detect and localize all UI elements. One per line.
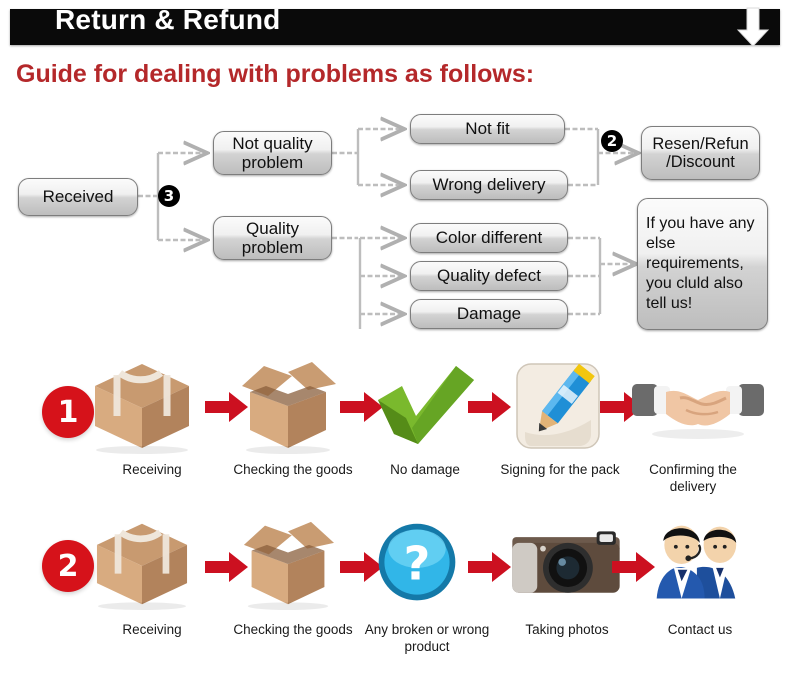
flow-box-damage: Damage bbox=[410, 299, 568, 329]
process-step-caption: Checking the goods bbox=[228, 462, 358, 479]
flow-box-label: Not fit bbox=[465, 119, 509, 138]
process-step: Confirming the delivery bbox=[628, 358, 758, 496]
badge-2: 2 bbox=[601, 130, 623, 152]
flow-box-not-fit: Not fit bbox=[410, 114, 565, 144]
flow-box-label: Quality defect bbox=[437, 266, 541, 285]
process-row-1: 1 Receiving bbox=[0, 350, 800, 510]
process-step-caption: Checking the goods bbox=[228, 622, 358, 639]
row-number-value: 2 bbox=[58, 549, 79, 584]
flowchart: Received 3 Not quality problem Quality p… bbox=[0, 100, 800, 340]
open-box-icon bbox=[228, 518, 358, 616]
flow-box-other-requirements: If you have any else requirements, you c… bbox=[637, 198, 768, 330]
process-step: Checking the goods bbox=[228, 358, 358, 479]
flow-box-label-line1: Quality bbox=[246, 219, 299, 238]
badge-3: 3 bbox=[158, 185, 180, 207]
flow-box-received: Received bbox=[18, 178, 138, 216]
flow-box-quality-defect: Quality defect bbox=[410, 261, 568, 291]
closed-box-icon bbox=[87, 518, 217, 616]
process-row-2: 2 Receiving bbox=[0, 518, 800, 678]
guide-heading: Guide for dealing with problems as follo… bbox=[16, 60, 534, 89]
flow-box-resend-refund-discount: Resen/Refun /Discount bbox=[641, 126, 760, 180]
process-step-caption: Receiving bbox=[87, 622, 217, 639]
handshake-icon bbox=[628, 358, 758, 456]
badge-2-value: 2 bbox=[607, 132, 617, 150]
flow-box-label: If you have any else requirements, you c… bbox=[646, 214, 767, 314]
support-agents-icon bbox=[635, 518, 765, 616]
flow-box-label-line2: problem bbox=[242, 153, 303, 172]
process-step: Contact us bbox=[635, 518, 765, 639]
flow-box-label-line1: Resen/Refun bbox=[652, 135, 748, 153]
process-step-caption: Any broken or wrong product bbox=[362, 622, 492, 656]
down-arrow-icon bbox=[735, 6, 771, 48]
flow-box-label: Received bbox=[43, 187, 114, 206]
page-title: Return & Refund bbox=[55, 4, 280, 36]
process-step-caption: Signing for the pack bbox=[495, 462, 625, 479]
badge-3-value: 3 bbox=[164, 187, 174, 205]
flow-box-label: Damage bbox=[457, 304, 521, 323]
flow-box-quality-problem: Quality problem bbox=[213, 216, 332, 260]
process-step: ? Any broken or wrong product bbox=[362, 518, 492, 656]
flow-box-not-quality-problem: Not quality problem bbox=[213, 131, 332, 175]
row-number-value: 1 bbox=[58, 395, 79, 430]
flow-box-label: Color different bbox=[436, 228, 542, 247]
process-step-caption: Confirming the delivery bbox=[628, 462, 758, 496]
flow-box-label-line1: Not quality bbox=[232, 134, 312, 153]
svg-text:?: ? bbox=[404, 536, 431, 590]
process-step-caption: Taking photos bbox=[502, 622, 632, 639]
closed-box-icon bbox=[87, 358, 217, 456]
process-step: Receiving bbox=[87, 358, 217, 479]
flow-box-color-different: Color different bbox=[410, 223, 568, 253]
process-step-caption: No damage bbox=[360, 462, 490, 479]
flow-box-label-line2: problem bbox=[242, 238, 303, 257]
flow-box-wrong-delivery: Wrong delivery bbox=[410, 170, 568, 200]
flow-box-label-line2: /Discount bbox=[666, 153, 735, 171]
process-step-caption: Receiving bbox=[87, 462, 217, 479]
flow-box-label: Wrong delivery bbox=[432, 175, 545, 194]
process-step: Checking the goods bbox=[228, 518, 358, 639]
process-step-caption: Contact us bbox=[635, 622, 765, 639]
process-step: Receiving bbox=[87, 518, 217, 639]
open-box-icon bbox=[228, 358, 358, 456]
